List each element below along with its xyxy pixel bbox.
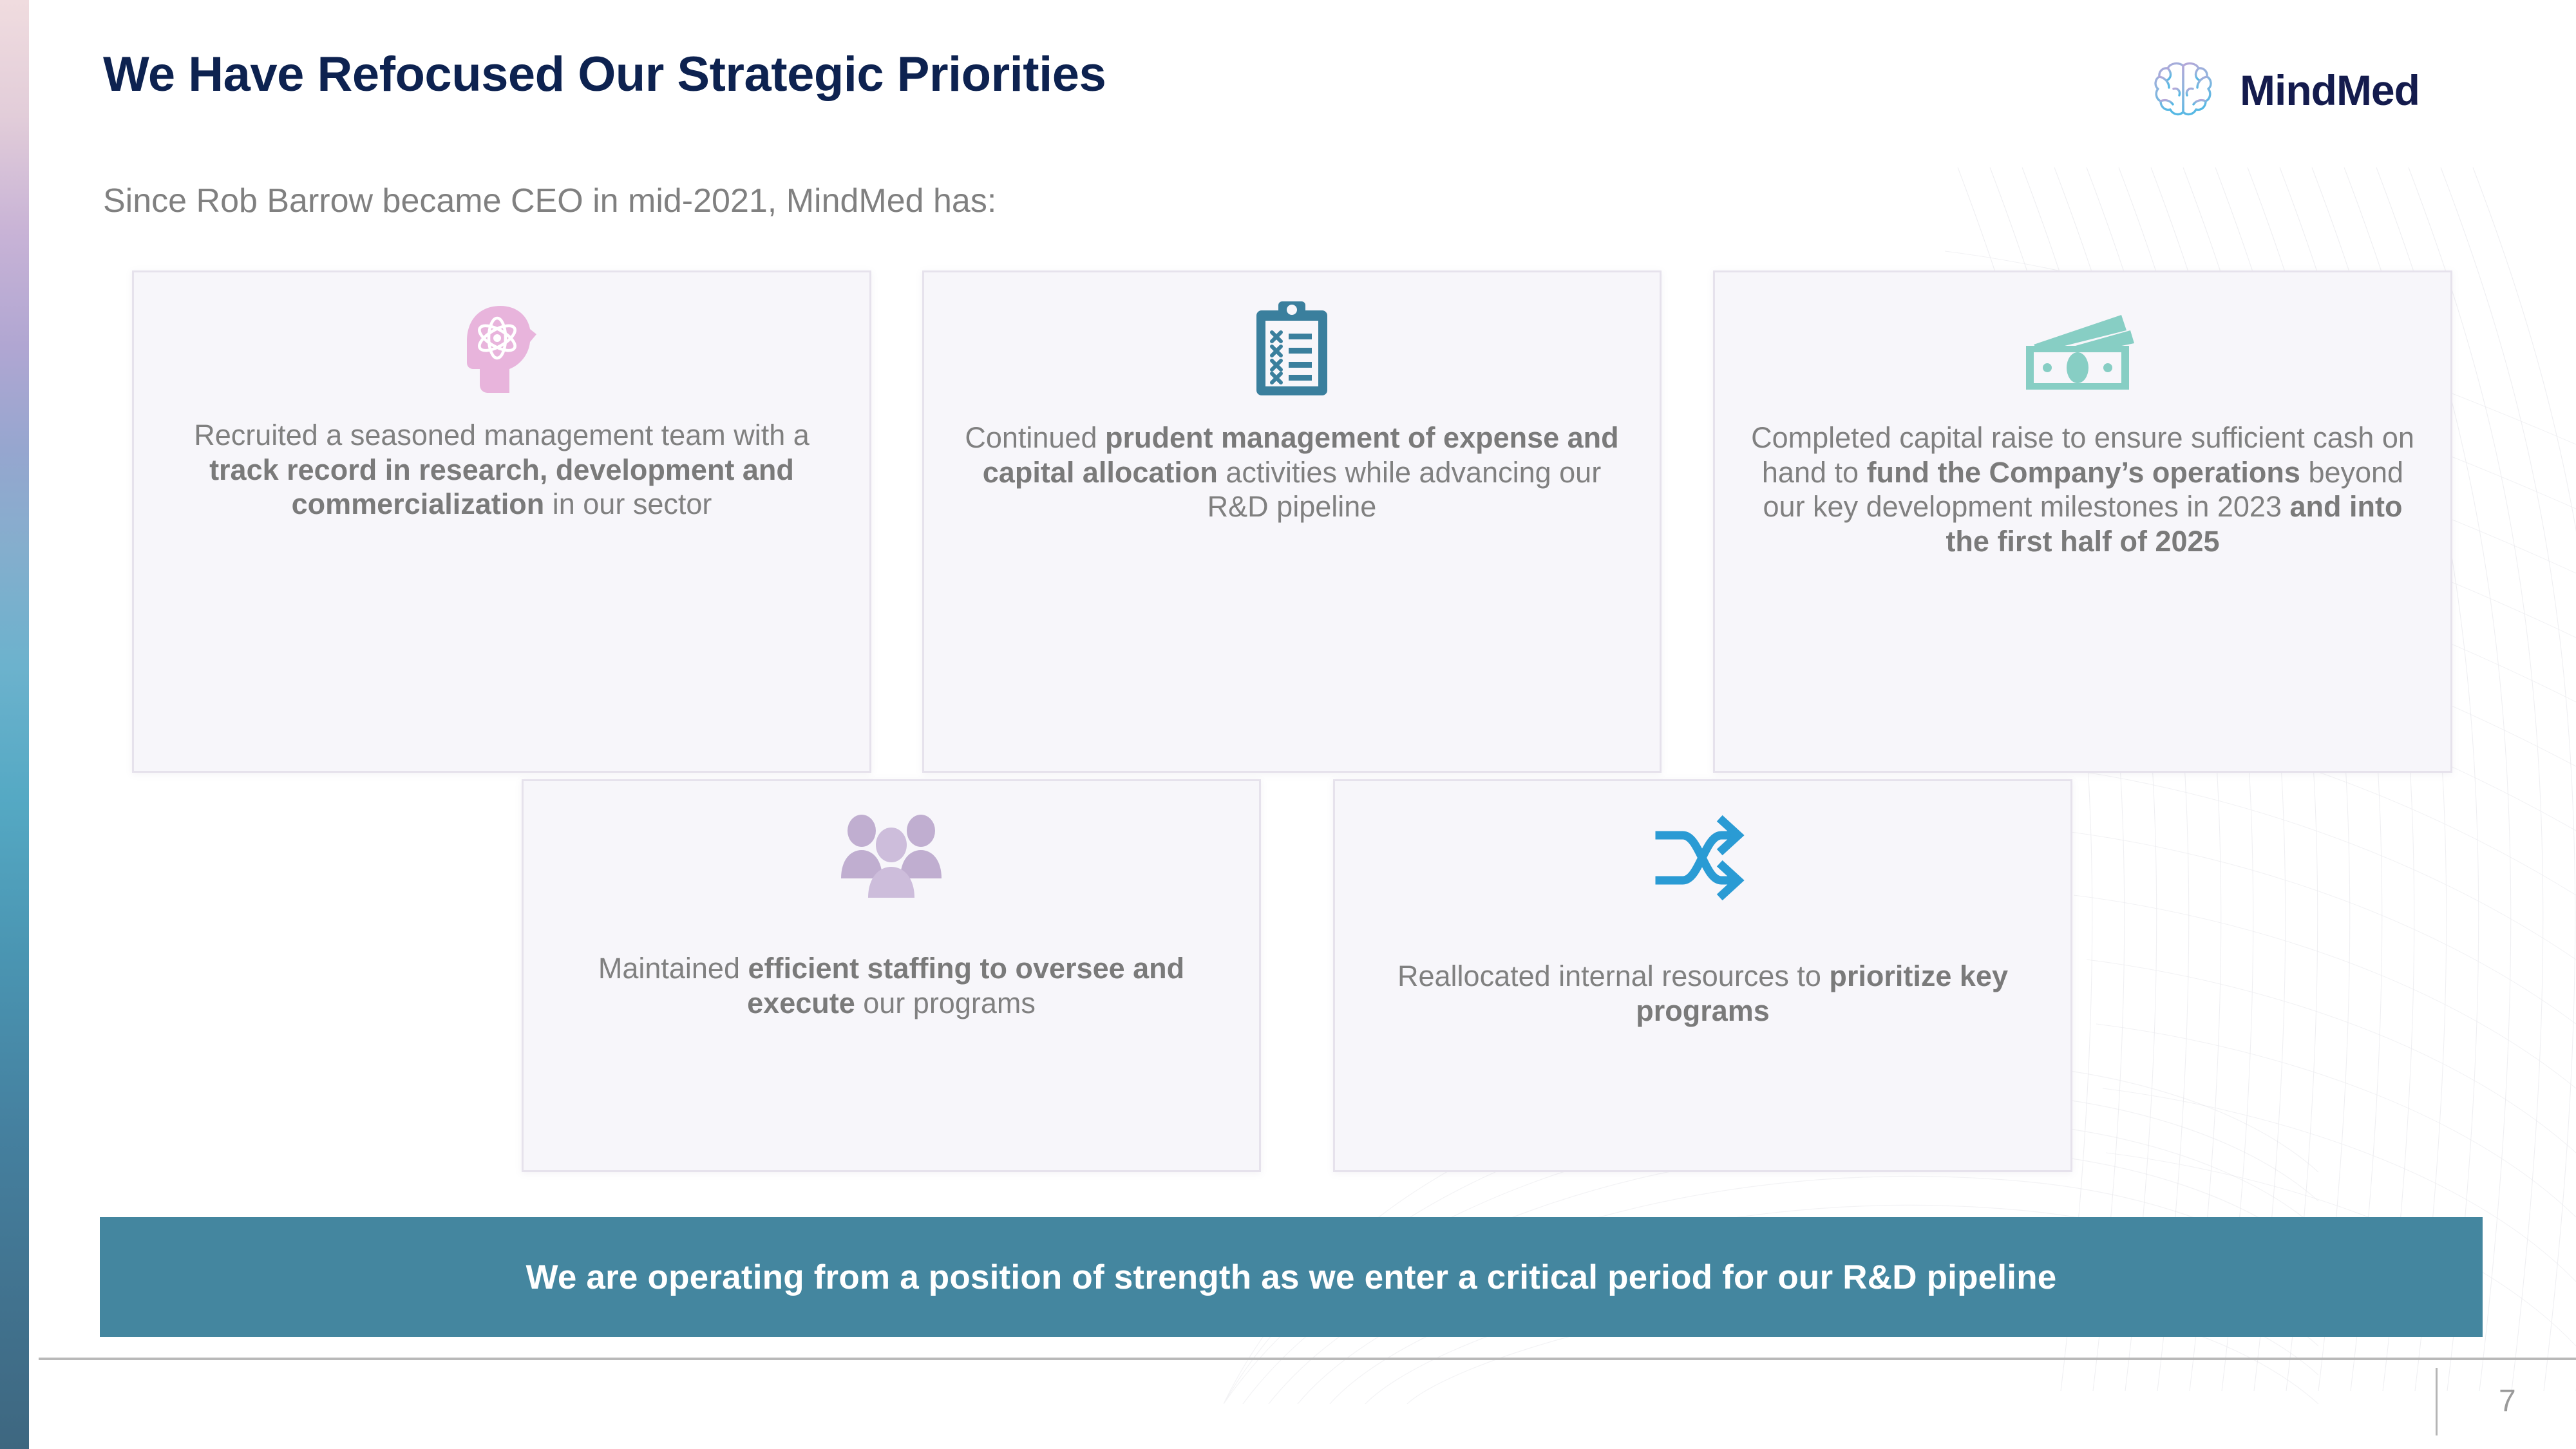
head-with-atom-icon (454, 294, 549, 404)
card-seg-bold: fund the Company’s operations (1867, 456, 2300, 489)
card-seg-plain: Continued (965, 421, 1105, 454)
card-seg-plain: Reallocated internal resources to (1397, 960, 1829, 992)
logo-wordmark: MindMed (2240, 66, 2420, 115)
left-accent-gradient-bar (0, 0, 29, 1449)
mindmed-logo: MindMed (2145, 52, 2420, 129)
card-body-text: Recruited a seasoned management team wit… (164, 418, 840, 522)
card-seg-plain: Maintained (598, 952, 748, 985)
page-title: We Have Refocused Our Strategic Prioriti… (103, 46, 1106, 102)
priority-card-reallocated-resources: Reallocated internal resources to priori… (1333, 779, 2072, 1172)
page-number: 7 (2499, 1383, 2516, 1419)
priority-card-prudent-management: Continued prudent management of expense … (922, 270, 1662, 773)
priority-card-capital-raise: Completed capital raise to ensure suffic… (1713, 270, 2452, 773)
clipboard-checklist-icon (1251, 294, 1332, 404)
summary-banner: We are operating from a position of stre… (100, 1217, 2483, 1337)
brain-icon (2145, 52, 2222, 129)
card-seg-plain-2: our programs (855, 987, 1036, 1019)
card-body-text: Maintained efficient staffing to oversee… (553, 951, 1230, 1020)
page-subtitle: Since Rob Barrow became CEO in mid-2021,… (103, 182, 996, 220)
card-seg-plain-2: in our sector (544, 488, 712, 520)
card-body-text: Reallocated internal resources to priori… (1365, 959, 2041, 1028)
cash-money-icon (2020, 294, 2146, 404)
footer-divider-rule (39, 1358, 2576, 1360)
card-seg-plain-2: activities while advancing our R&D pipel… (1207, 456, 1602, 524)
shuffle-arrows-icon (1654, 803, 1751, 913)
card-body-text: Continued prudent management of expense … (954, 421, 1631, 524)
card-body-text: Completed capital raise to ensure suffic… (1745, 421, 2421, 558)
priority-card-efficient-staffing: Maintained efficient staffing to oversee… (522, 779, 1261, 1172)
page-number-divider (2436, 1368, 2438, 1435)
summary-banner-text: We are operating from a position of stre… (526, 1258, 2057, 1297)
priority-card-recruited-management: Recruited a seasoned management team wit… (132, 270, 871, 773)
people-group-icon (833, 803, 949, 913)
card-seg-plain: Recruited a seasoned management team wit… (194, 419, 810, 451)
